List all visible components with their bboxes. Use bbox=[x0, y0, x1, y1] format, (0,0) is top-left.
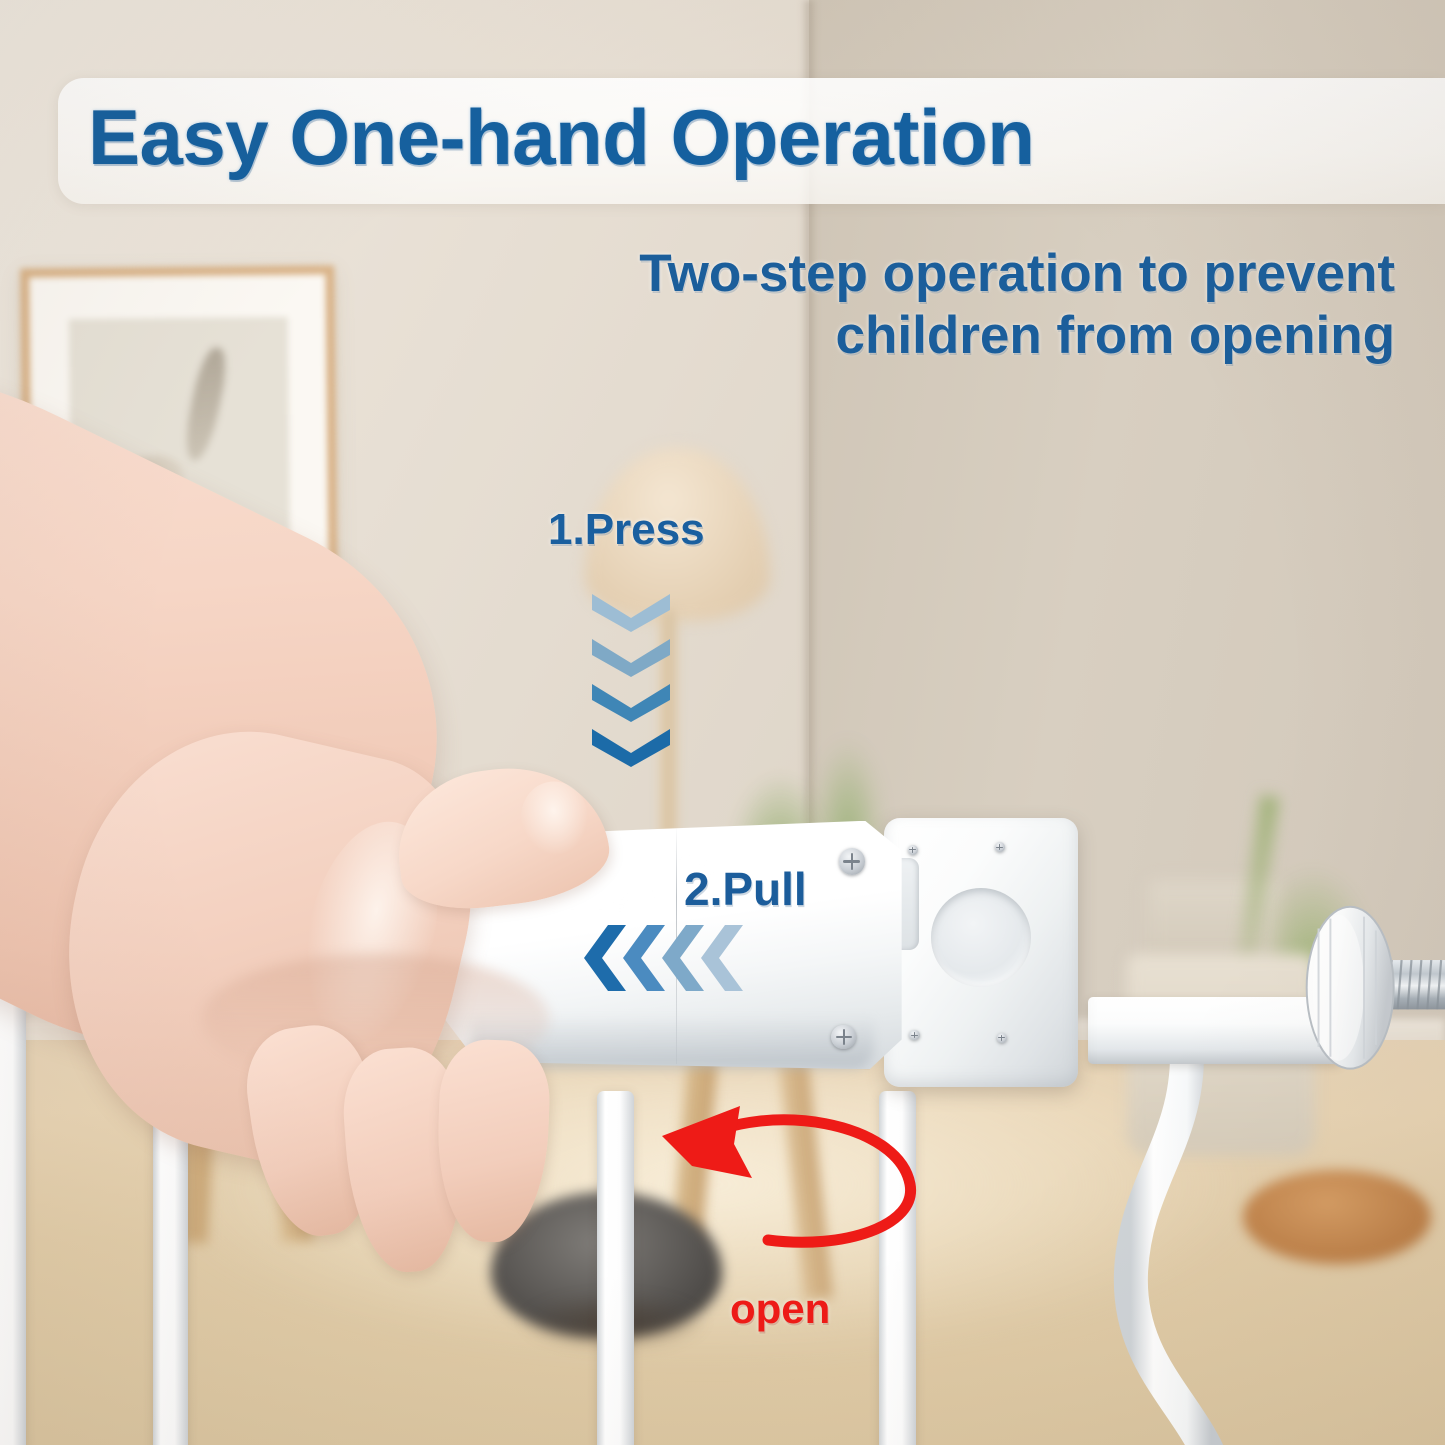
chevron-down-icon-2 bbox=[592, 637, 670, 677]
chevron-down-icon-4 bbox=[592, 727, 670, 767]
gate-bar-center-1 bbox=[597, 1091, 635, 1445]
product-feature-image: Easy One-hand Operation Two-step operati… bbox=[0, 0, 1445, 1445]
screw-bottom-left-icon bbox=[909, 1030, 919, 1040]
open-curved-arrow-icon bbox=[648, 1092, 948, 1272]
screw-top-left-icon bbox=[908, 845, 918, 855]
pull-chevron-group bbox=[582, 925, 772, 997]
picture-artwork-shape-a bbox=[180, 345, 231, 464]
screw-top-right-icon bbox=[995, 842, 1005, 852]
chevron-down-icon-3 bbox=[592, 682, 670, 722]
press-chevron-group bbox=[592, 592, 680, 768]
page-title: Easy One-hand Operation bbox=[88, 92, 1034, 183]
gate-bar-left-1 bbox=[0, 961, 26, 1445]
subtitle-line-1: Two-step operation to prevent bbox=[435, 243, 1395, 305]
screw-bottom-right-icon bbox=[997, 1033, 1007, 1043]
chevron-left-icon-4 bbox=[699, 925, 745, 991]
bracket-circular-recess bbox=[931, 888, 1032, 987]
chevron-down-icon-1 bbox=[592, 592, 670, 632]
open-label: open bbox=[730, 1285, 830, 1333]
page-subtitle: Two-step operation to prevent children f… bbox=[435, 243, 1395, 367]
pressure-mount-knob-assembly[interactable] bbox=[1279, 889, 1445, 1091]
step-1-press-label: 1.Press bbox=[548, 505, 705, 555]
gate-bar-curved-right bbox=[1091, 1055, 1351, 1445]
hinge-bracket bbox=[884, 818, 1078, 1087]
subtitle-line-2: children from opening bbox=[435, 305, 1395, 367]
step-2-pull-label: 2.Pull bbox=[684, 862, 807, 916]
handle-screw-top-right-icon bbox=[839, 848, 865, 874]
